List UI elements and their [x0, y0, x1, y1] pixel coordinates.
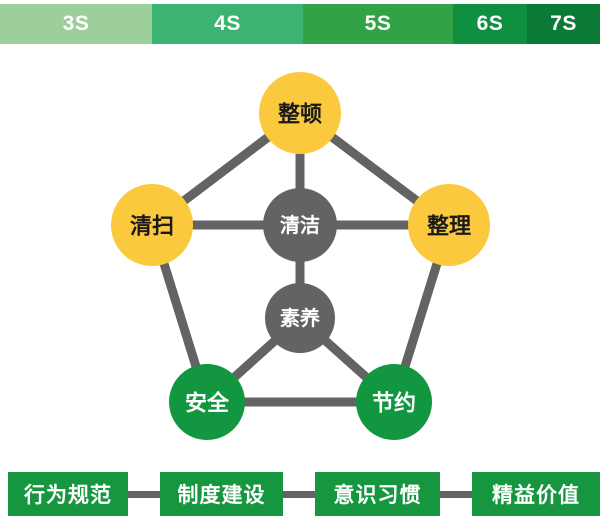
scale-segment-7s: 7S — [527, 4, 600, 44]
node-zhengdun[interactable]: 整顿 — [259, 72, 341, 154]
node-qingsao[interactable]: 清扫 — [111, 184, 193, 266]
node-qingjie[interactable]: 清洁 — [263, 188, 337, 262]
outcome-chip-4[interactable]: 精益价值 — [472, 472, 600, 516]
scale-segment-3s: 3S — [0, 4, 152, 44]
chip-connector-2 — [283, 491, 315, 498]
scale-segment-4s: 4S — [152, 4, 303, 44]
node-jieyue[interactable]: 节约 — [356, 364, 432, 440]
outcome-chip-bar: 行为规范制度建设意识习惯精益价值 — [0, 472, 600, 518]
node-layer: 清洁素养整顿整理节约安全清扫 — [111, 72, 490, 440]
scale-segment-5s: 5S — [303, 4, 453, 44]
node-label-anquan: 安全 — [185, 391, 230, 416]
five-s-pentagon-diagram: 清洁素养整顿整理节约安全清扫 — [0, 48, 600, 468]
chip-connector-3 — [440, 491, 472, 498]
outcome-chip-2[interactable]: 制度建设 — [160, 472, 283, 516]
pentagon-svg: 清洁素养整顿整理节约安全清扫 — [0, 48, 600, 468]
outcome-chip-1[interactable]: 行为规范 — [8, 472, 128, 516]
node-label-qingjie: 清洁 — [280, 213, 320, 237]
scale-segment-6s: 6S — [453, 4, 527, 44]
s-scale-bar: 3S4S5S6S7S — [0, 4, 600, 44]
node-zhengli[interactable]: 整理 — [408, 184, 490, 266]
outcome-chip-3[interactable]: 意识习惯 — [315, 472, 440, 516]
node-label-zhengdun: 整顿 — [278, 102, 322, 127]
node-label-zhengli: 整理 — [427, 214, 471, 239]
node-suyang[interactable]: 素养 — [265, 283, 335, 353]
node-label-jieyue: 节约 — [372, 391, 416, 416]
chip-connector-1 — [128, 491, 160, 498]
node-label-qingsao: 清扫 — [130, 214, 174, 239]
node-label-suyang: 素养 — [280, 306, 320, 330]
node-anquan[interactable]: 安全 — [169, 364, 245, 440]
